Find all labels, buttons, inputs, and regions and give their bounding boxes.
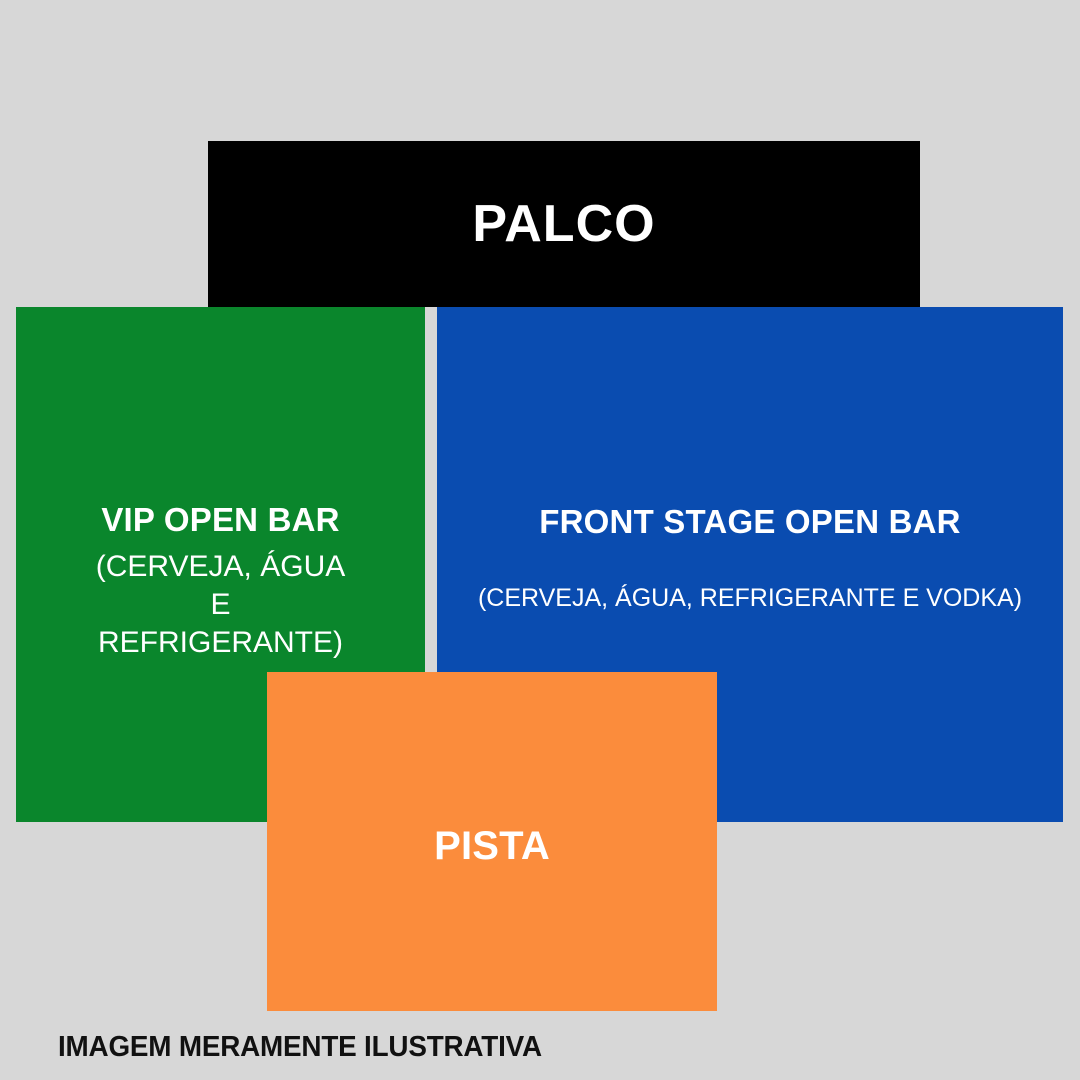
zone-stage-label: PALCO — [472, 197, 655, 252]
zone-vip-open-bar-subtitle: (CERVEJA, ÁGUA E REFRIGERANTE) — [86, 548, 356, 663]
zone-pista-label: PISTA — [434, 825, 550, 867]
venue-map: PALCO VIP OPEN BAR (CERVEJA, ÁGUA E REFR… — [0, 0, 1080, 1080]
zone-stage[interactable]: PALCO — [208, 141, 920, 307]
zone-front-stage-open-bar-subtitle: (CERVEJA, ÁGUA, REFRIGERANTE E VODKA) — [478, 582, 1022, 614]
zone-vip-open-bar-label: VIP OPEN BAR — [101, 503, 339, 538]
disclaimer-text: IMAGEM MERAMENTE ILUSTRATIVA — [58, 1031, 542, 1064]
zone-pista[interactable]: PISTA — [267, 672, 717, 1011]
zone-front-stage-open-bar-label: FRONT STAGE OPEN BAR — [539, 505, 960, 540]
